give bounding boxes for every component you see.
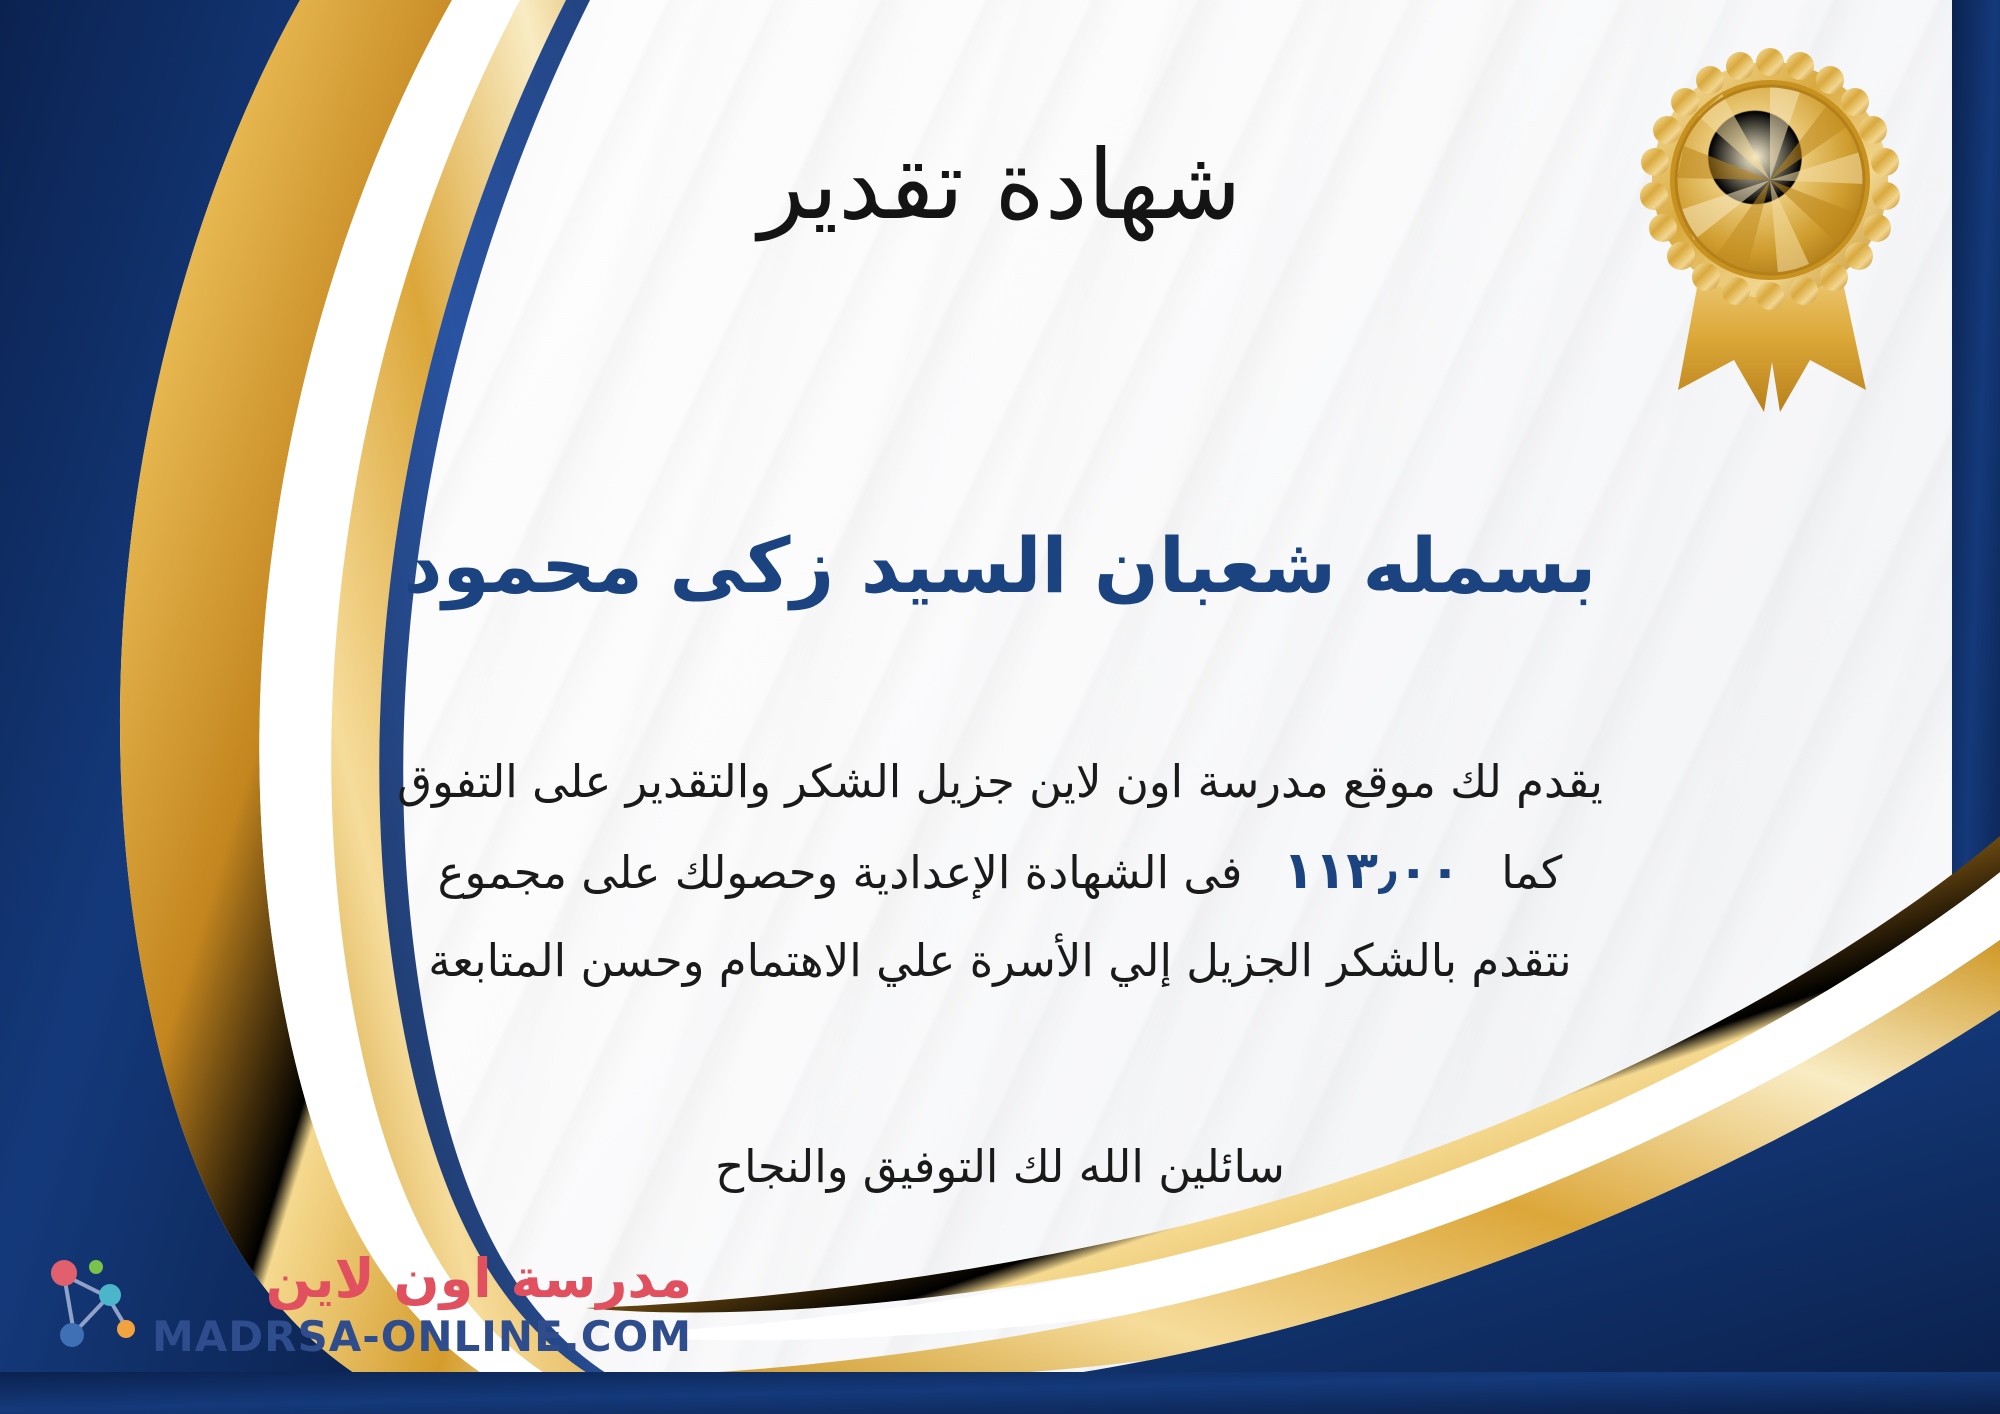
body-line-3: نتقدم بالشكر الجزيل إلي الأسرة علي الاهت… (150, 919, 1850, 1002)
network-nodes-icon (34, 1253, 138, 1357)
brand-name-arabic: مدرسة اون لاين (266, 1252, 692, 1306)
recipient-name: بسمله شعبان السيد زكى محمود (0, 520, 2000, 611)
closing-line: سائلين الله لك التوفيق والنجاح (0, 1140, 2000, 1193)
brand-logo[interactable]: مدرسة اون لاين MADRSA-ONLINE.COM (34, 1252, 692, 1358)
certificate-content: شهادة تقدير بسمله شعبان السيد زكى محمود … (0, 0, 2000, 1414)
certificate-canvas: شهادة تقدير بسمله شعبان السيد زكى محمود … (0, 0, 2000, 1414)
body-line-2: كما ١١٣٫٠٠ فى الشهادة الإعدادية وحصولك ع… (150, 823, 1850, 919)
certificate-body: يقدم لك موقع مدرسة اون لاين جزيل الشكر و… (150, 740, 1850, 1003)
body-line-2-suffix: كما (1501, 846, 1562, 899)
grade-value: ١١٣٫٠٠ (1257, 841, 1487, 901)
body-line-2-prefix: فى الشهادة الإعدادية وحصولك على مجموع (438, 846, 1243, 899)
brand-name-english: MADRSA-ONLINE.COM (152, 1316, 692, 1358)
certificate-title: شهادة تقدير (0, 130, 2000, 240)
brand-wordmark: مدرسة اون لاين MADRSA-ONLINE.COM (152, 1252, 692, 1358)
body-line-1: يقدم لك موقع مدرسة اون لاين جزيل الشكر و… (150, 740, 1850, 823)
